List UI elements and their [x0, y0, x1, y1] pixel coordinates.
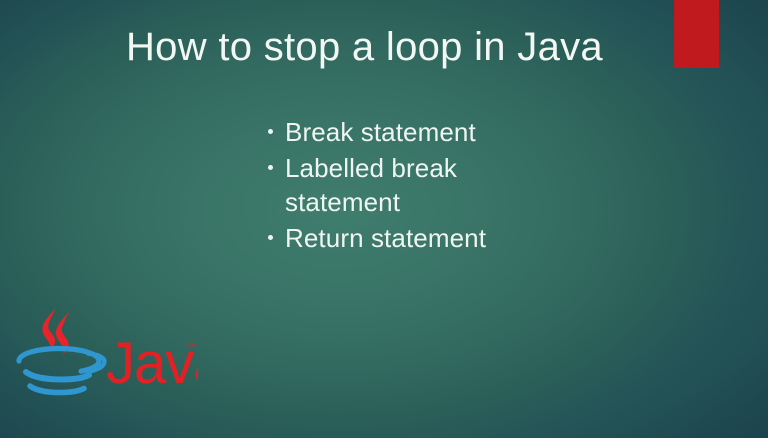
java-logo: Java ™ [8, 305, 198, 397]
bullet-dot-icon [268, 235, 273, 240]
list-item: Break statement [262, 115, 562, 149]
svg-text:™: ™ [186, 342, 197, 354]
list-item-label: Labelled break statement [285, 153, 457, 217]
bullet-dot-icon [268, 129, 273, 134]
red-accent-bar [674, 0, 719, 68]
presentation-slide: How to stop a loop in Java Break stateme… [0, 0, 768, 438]
list-item-label: Break statement [285, 117, 476, 147]
list-item: Labelled break statement [262, 151, 562, 219]
bullet-dot-icon [268, 165, 273, 170]
svg-text:Java: Java [106, 331, 198, 396]
list-item-label: Return statement [285, 223, 486, 253]
java-cup-icon [19, 349, 104, 393]
java-wordmark: Java ™ [106, 331, 198, 396]
list-item: Return statement [262, 221, 562, 255]
slide-title: How to stop a loop in Java [126, 20, 666, 74]
bullet-list: Break statement Labelled break statement… [262, 115, 562, 257]
